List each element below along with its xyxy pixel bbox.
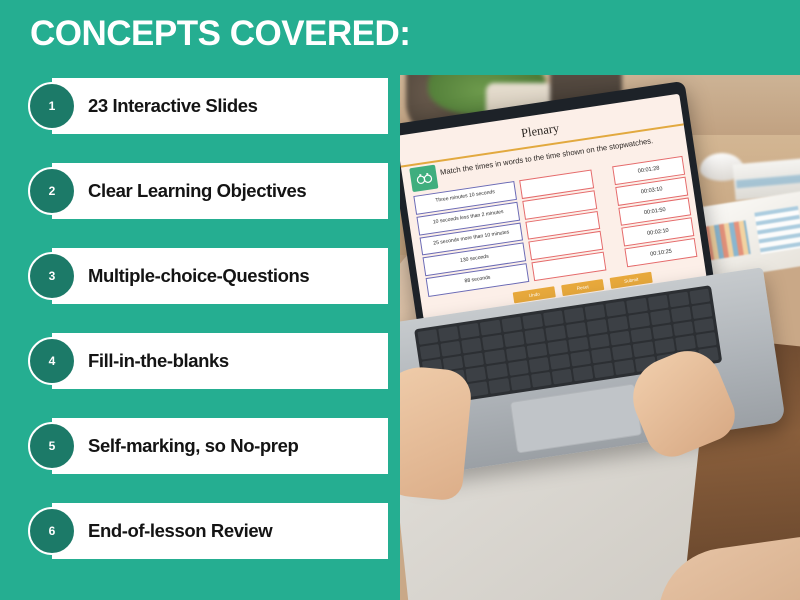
keyboard-key — [461, 338, 482, 353]
keyboard-key — [673, 321, 694, 336]
keyboard-key — [650, 309, 671, 324]
keyboard-key — [438, 326, 459, 341]
drop-zone-column — [520, 169, 607, 281]
left-panel: CONCEPTS COVERED: 23 Interactive Slides … — [0, 0, 400, 600]
keyboard-key — [480, 320, 501, 335]
concept-number-badge: 3 — [28, 252, 76, 300]
keyboard-key — [589, 333, 610, 348]
keyboard-key — [522, 314, 543, 329]
keyboard-key — [675, 336, 696, 351]
keyboard-key — [608, 316, 629, 331]
concept-label: Self-marking, so No-prep — [88, 418, 382, 474]
keyboard-key — [614, 360, 635, 376]
keyboard-key — [529, 357, 550, 372]
keyboard-key — [441, 341, 462, 356]
list-item[interactable]: Fill-in-the-blanks 4 — [0, 333, 400, 389]
keyboard-key — [591, 348, 612, 363]
concept-number-badge: 4 — [28, 337, 76, 385]
keyboard-key — [594, 363, 615, 379]
keyboard-key — [524, 328, 545, 343]
word-card-column: Three minutes 10 seconds 10 seconds less… — [413, 181, 529, 297]
keyboard-key — [420, 344, 441, 359]
keyboard-key — [587, 319, 608, 334]
concept-number-badge: 5 — [28, 422, 76, 470]
keyboard-key — [531, 372, 552, 388]
keyboard-key — [585, 304, 606, 319]
concept-number-badge: 1 — [28, 82, 76, 130]
keyboard-key — [464, 352, 485, 367]
keyboard-key — [566, 322, 587, 337]
product-photo: Plenary Match the times in words to the … — [400, 75, 800, 600]
keyboard-key — [459, 323, 480, 338]
keyboard-key — [696, 332, 717, 347]
stopwatch-logo-icon — [409, 165, 438, 193]
keyboard-key — [543, 310, 564, 325]
concept-bar: Fill-in-the-blanks — [52, 333, 388, 389]
keyboard-key — [552, 369, 573, 385]
keyboard-key — [443, 355, 464, 370]
concept-bar: 23 Interactive Slides — [52, 78, 388, 134]
concept-label: 23 Interactive Slides — [88, 78, 382, 134]
keyboard-key — [505, 346, 526, 361]
list-item[interactable]: End-of-lesson Review 6 — [0, 503, 400, 559]
keyboard-key — [631, 327, 652, 342]
keyboard-key — [570, 351, 591, 366]
page-title: CONCEPTS COVERED: — [30, 14, 410, 54]
keyboard-key — [485, 349, 506, 364]
keyboard-key — [633, 342, 654, 357]
keyboard-key — [689, 289, 710, 304]
concept-label: Fill-in-the-blanks — [88, 333, 382, 389]
left-hand — [400, 363, 473, 501]
keyboard-key — [691, 303, 712, 318]
keyboard-key — [573, 366, 594, 382]
keyboard-key — [482, 334, 503, 349]
matching-activity: Three minutes 10 seconds 10 seconds less… — [413, 156, 697, 297]
keyboard-key — [547, 340, 568, 355]
keyboard-key — [610, 330, 631, 345]
keyboard-key — [668, 292, 689, 307]
concept-label: End-of-lesson Review — [88, 503, 382, 559]
keyboard-key — [564, 307, 585, 322]
list-item[interactable]: Clear Learning Objectives 2 — [0, 163, 400, 219]
concept-label: Multiple-choice-Questions — [88, 248, 382, 304]
keyboard-key — [489, 378, 510, 394]
keyboard-key — [508, 361, 529, 376]
keyboard-key — [654, 339, 675, 354]
concept-list: 23 Interactive Slides 1 Clear Learning O… — [0, 78, 400, 588]
concept-label: Clear Learning Objectives — [88, 163, 382, 219]
keyboard-key — [468, 381, 489, 397]
keyboard-key — [627, 298, 648, 313]
time-card-column: 00:01:28 00:03:10 00:01:50 00:02:10 00:1… — [612, 156, 697, 267]
keyboard-key — [612, 345, 633, 360]
keyboard-key — [503, 331, 524, 346]
keyboard-key — [568, 337, 589, 352]
trackpad — [510, 383, 642, 453]
keyboard-key — [647, 295, 668, 310]
keyboard-key — [487, 364, 508, 379]
concept-bar: Self-marking, so No-prep — [52, 418, 388, 474]
concept-number-badge: 6 — [28, 507, 76, 555]
laptop: Plenary Match the times in words to the … — [400, 75, 788, 451]
list-item[interactable]: 23 Interactive Slides 1 — [0, 78, 400, 134]
keyboard-key — [652, 324, 673, 339]
keyboard-key — [671, 306, 692, 321]
keyboard-key — [606, 301, 627, 316]
keyboard-key — [466, 367, 487, 382]
concept-bar: End-of-lesson Review — [52, 503, 388, 559]
keyboard-key — [629, 313, 650, 328]
keyboard-key — [549, 354, 570, 369]
list-item[interactable]: Multiple-choice-Questions 3 — [0, 248, 400, 304]
keyboard-key — [417, 329, 438, 344]
keyboard-key — [545, 325, 566, 340]
concept-bar: Clear Learning Objectives — [52, 163, 388, 219]
keyboard-key — [526, 343, 547, 358]
concept-bar: Multiple-choice-Questions — [52, 248, 388, 304]
concept-number-badge: 2 — [28, 167, 76, 215]
list-item[interactable]: Self-marking, so No-prep 5 — [0, 418, 400, 474]
keyboard-key — [501, 317, 522, 332]
keyboard-key — [694, 318, 715, 333]
keyboard-key — [510, 375, 531, 391]
